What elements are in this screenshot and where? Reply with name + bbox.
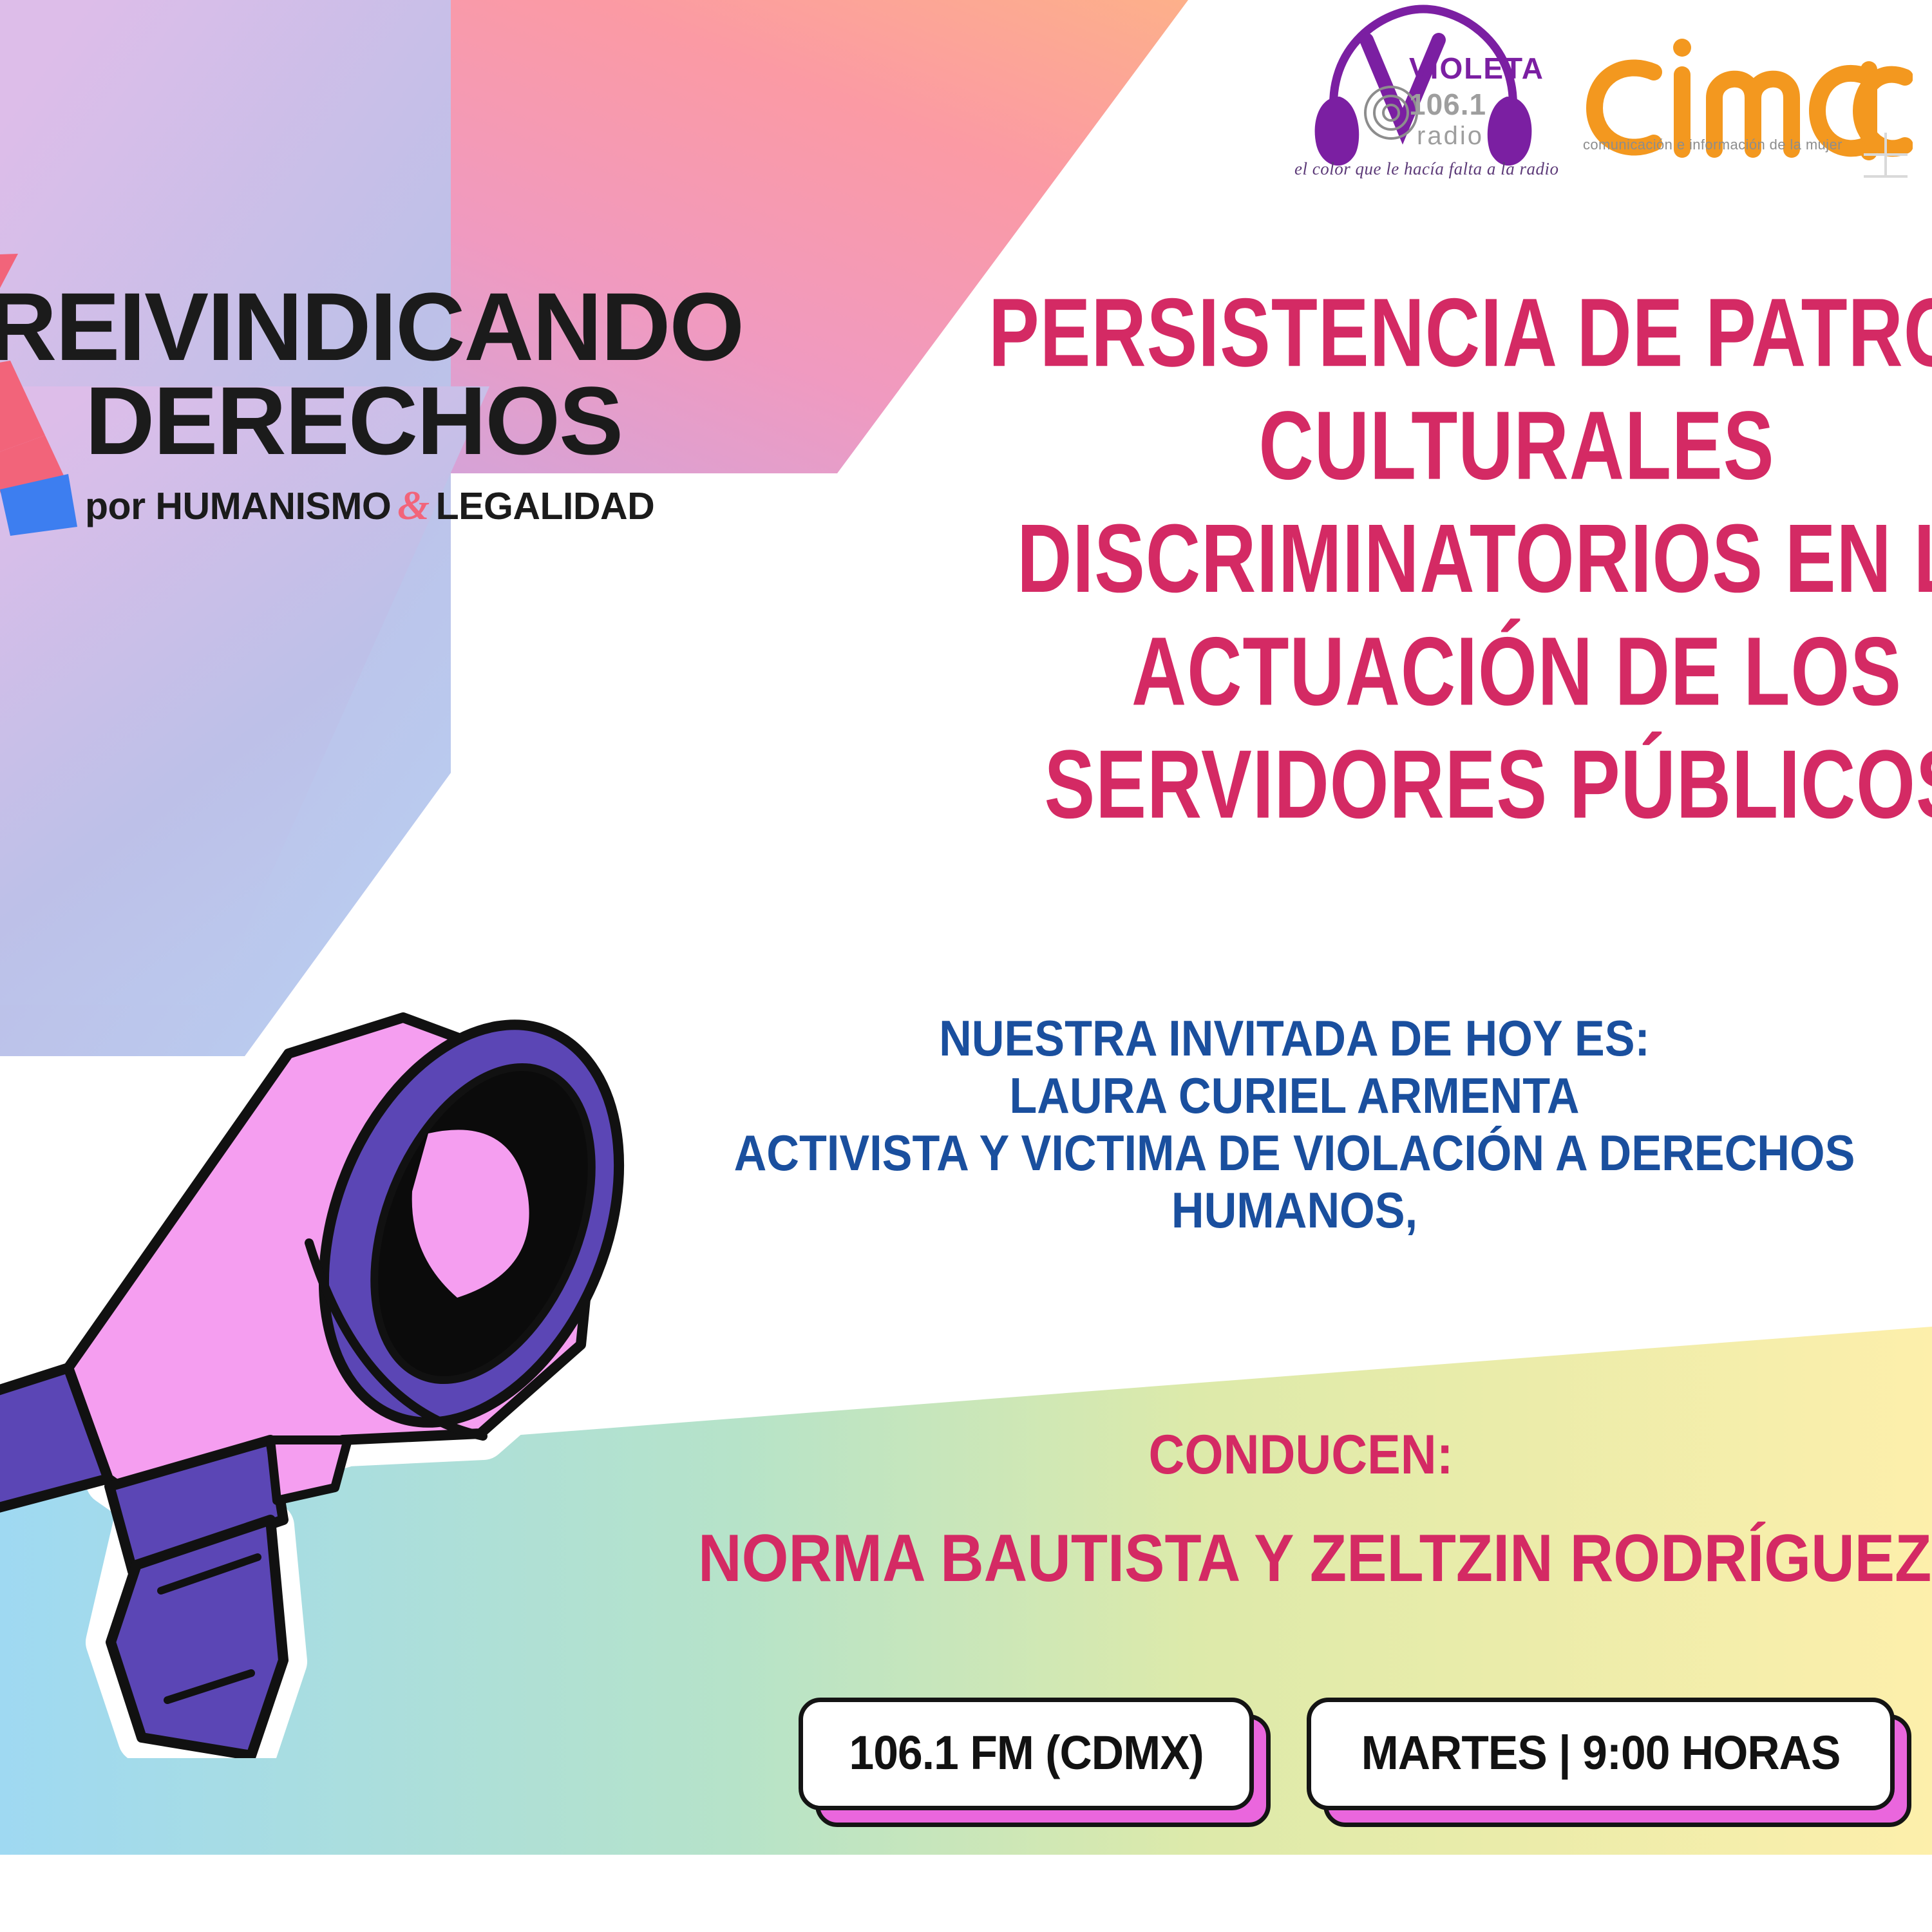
megaphone-illustration — [0, 921, 708, 1758]
title-line-4: ACTUACIÓN DE LOS — [1014, 616, 1932, 728]
hosts-block: CONDUCEN: NORMA BAUTISTA Y ZELTZIN RODRÍ… — [698, 1423, 1904, 1597]
hosts-names: NORMA BAUTISTA Y ZELTZIN RODRÍGUEZ — [698, 1520, 1904, 1597]
violeta-radio-logo: VIOLETA 106.1 radio el color que le hací… — [1294, 0, 1552, 193]
brand-subtitle-prefix: por HUMANISMO — [85, 484, 391, 528]
hosts-label: CONDUCEN: — [698, 1423, 1904, 1487]
episode-title: PERSISTENCIA DE PATRONES CULTURALES DISC… — [1014, 277, 1932, 841]
guest-name: LAURA CURIEL ARMENTA — [697, 1067, 1891, 1124]
broadcast-info-badges: 106.1 FM (CDMX) MARTES | 9:00 HORAS — [799, 1698, 1895, 1810]
frequency-badge-face: 106.1 FM (CDMX) — [799, 1698, 1254, 1810]
frequency-badge-label: 106.1 FM (CDMX) — [849, 1725, 1204, 1780]
guest-role-line-1: ACTIVISTA Y VICTIMA DE VIOLACIÓN A DEREC… — [697, 1124, 1891, 1182]
violeta-wordmark: VIOLETA — [1409, 52, 1544, 85]
program-brand-lockup: REIVINDICANDO DERECHOS por HUMANISMO & L… — [0, 282, 774, 529]
title-line-2: CULTURALES — [1014, 390, 1932, 502]
poster-canvas: VIOLETA 106.1 radio el color que le hací… — [0, 0, 1932, 1932]
brand-line-one: REIVINDICANDO — [0, 282, 774, 371]
guest-block: NUESTRA INVITADA DE HOY ES: LAURA CURIEL… — [697, 1010, 1891, 1239]
brand-subtitle-suffix: LEGALIDAD — [436, 484, 655, 528]
schedule-badge-face: MARTES | 9:00 HORAS — [1307, 1698, 1895, 1810]
partner-logos: VIOLETA 106.1 radio el color que le hací… — [1294, 0, 1932, 213]
title-line-1: PERSISTENCIA DE PATRONES — [989, 277, 1932, 390]
title-line-3: DISCRIMINATORIOS EN LA — [1014, 502, 1932, 615]
cimac-tagline: comunicación e información de la mujer — [1583, 137, 1842, 153]
brand-subtitle-ampersand: & — [391, 482, 435, 529]
violeta-frequency: 106.1 — [1409, 88, 1486, 121]
cimac-logo: comunicación e información de la mujer — [1578, 0, 1913, 193]
title-line-5: SERVIDORES PÚBLICOS. — [1014, 728, 1932, 841]
violeta-radio-word: radio — [1417, 122, 1484, 150]
violeta-tagline: el color que le hacía falta a la radio — [1294, 159, 1552, 179]
brand-line-two: DERECHOS — [0, 376, 774, 465]
guest-role-line-2: HUMANOS, — [697, 1182, 1891, 1239]
cimac-wordmark-icon — [1578, 0, 1913, 193]
frequency-badge[interactable]: 106.1 FM (CDMX) — [799, 1698, 1254, 1810]
schedule-badge[interactable]: MARTES | 9:00 HORAS — [1307, 1698, 1895, 1810]
brand-subtitle: por HUMANISMO & LEGALIDAD — [0, 482, 774, 529]
ampersand-mark-icon — [0, 245, 116, 567]
guest-intro-line: NUESTRA INVITADA DE HOY ES: — [697, 1010, 1891, 1067]
schedule-badge-label: MARTES | 9:00 HORAS — [1361, 1725, 1841, 1780]
